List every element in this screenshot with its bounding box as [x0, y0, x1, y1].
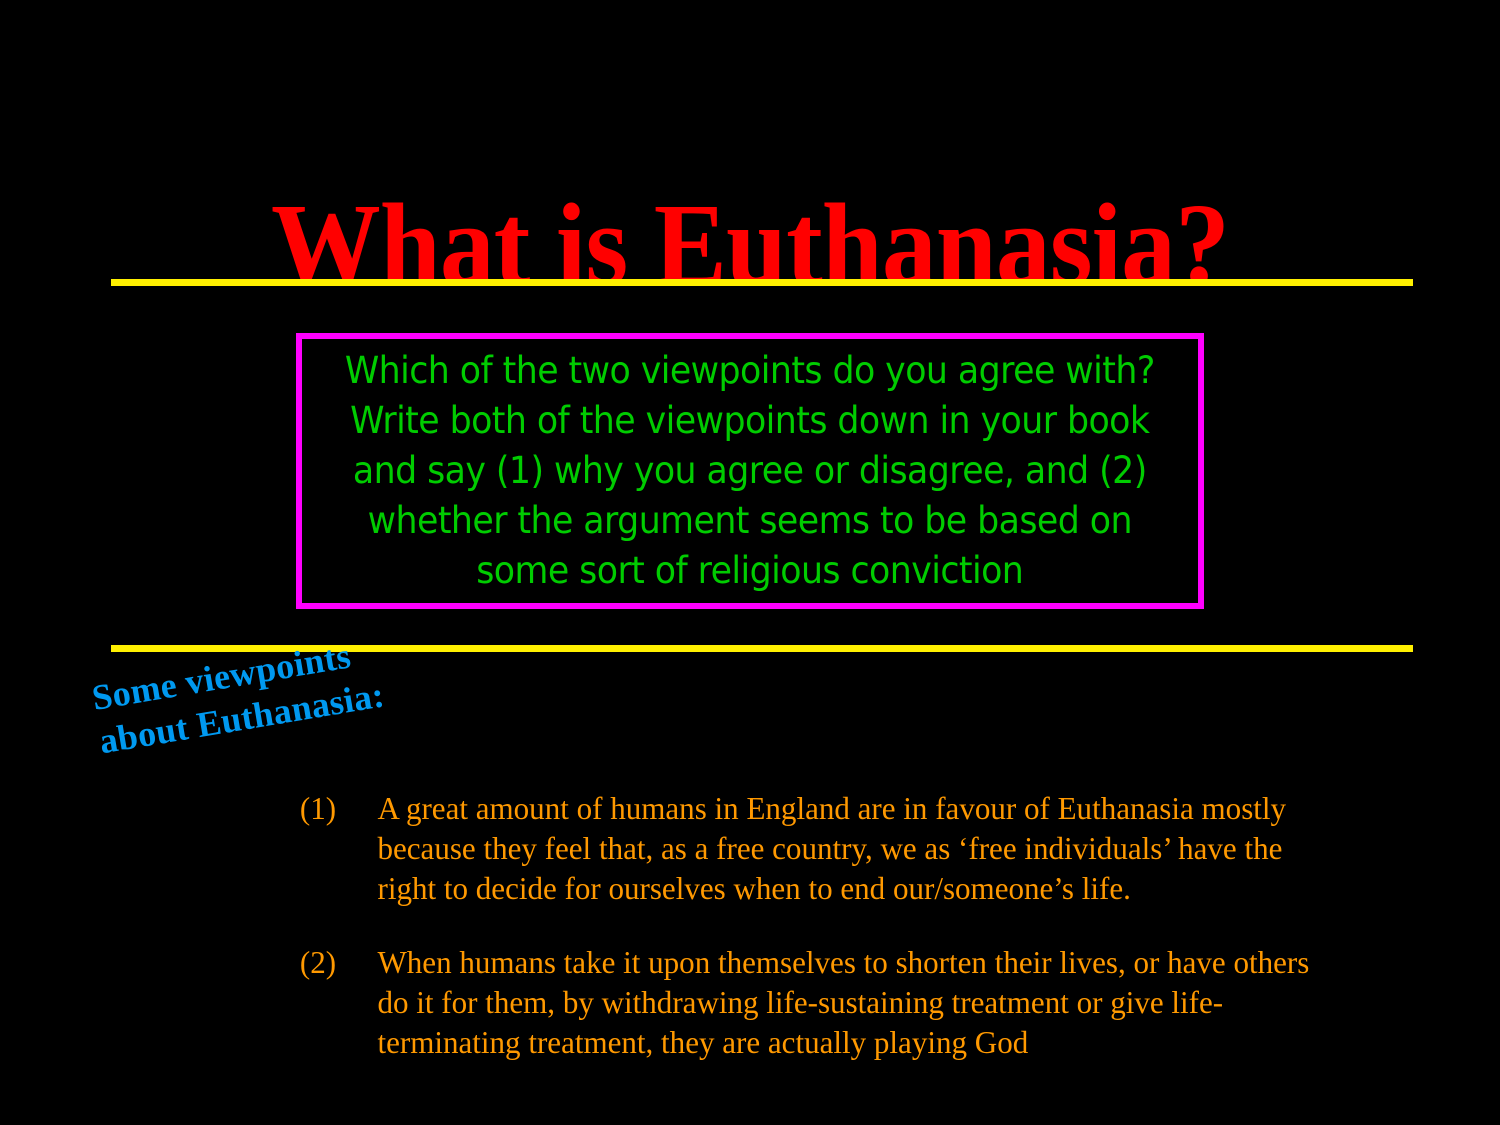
- list-item-text: A great amount of humans in England are …: [377, 788, 1324, 908]
- slide-canvas: What is Euthanasia? Which of the two vie…: [0, 0, 1500, 1125]
- list-item: (2) When humans take it upon themselves …: [296, 942, 1324, 1062]
- list-item-text: When humans take it upon themselves to s…: [377, 942, 1324, 1062]
- page-title: What is Euthanasia?: [53, 183, 1448, 307]
- viewpoints-heading: Some viewpoints about Euthanasia:: [89, 617, 459, 763]
- instruction-callout-text: Which of the two viewpoints do you agree…: [338, 346, 1163, 596]
- instruction-callout: Which of the two viewpoints do you agree…: [296, 333, 1204, 609]
- divider-top: [111, 279, 1413, 286]
- list-item-marker: (1): [300, 788, 368, 828]
- viewpoints-list: (1) A great amount of humans in England …: [296, 788, 1356, 1062]
- list-item: (1) A great amount of humans in England …: [296, 788, 1324, 908]
- list-item-marker: (2): [300, 942, 368, 982]
